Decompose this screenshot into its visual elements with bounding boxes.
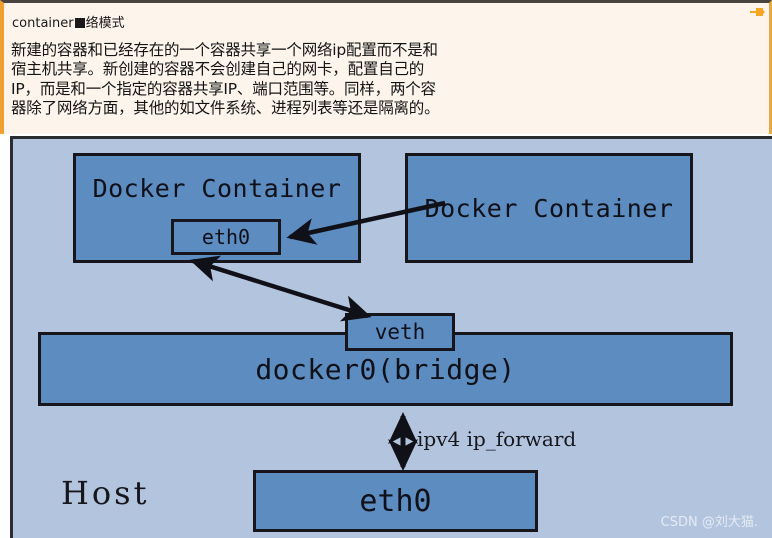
article-paragraph: 新建的容器和已经存在的一个容器共享一个网络ip配置而不是和 宿主机共享。新创建的… xyxy=(11,41,463,119)
article-text-panel: container络模式 新建的容器和已经存在的一个容器共享一个网络ip配置而不… xyxy=(0,0,772,134)
eth0-label: eth0 xyxy=(359,484,431,519)
paragraph-line: 新建的容器和已经存在的一个容器共享一个网络ip配置而不是和 xyxy=(11,41,463,60)
veth-interface-box: veth xyxy=(345,313,455,351)
csdn-watermark: CSDN @刘大猫. xyxy=(661,511,758,530)
paragraph-line: IP，而是和一个指定的容器共享IP、端口范围等。同样，两个容 xyxy=(11,80,463,99)
host-label: Host xyxy=(61,474,149,512)
docker-container-label: Docker Container xyxy=(93,174,342,203)
docker0-label: docker0(bridge) xyxy=(255,353,515,386)
diagram-canvas: Docker Container Docker Container eth0 d… xyxy=(13,139,772,538)
page-title-suffix: 络模式 xyxy=(86,16,125,31)
ip-forward-label: ipv4 ip_forward xyxy=(417,427,576,451)
page-title: container络模式 xyxy=(12,12,125,31)
missing-glyph-box xyxy=(75,18,85,28)
page-title-prefix: container xyxy=(12,16,74,31)
eth0-interface-box-container: eth0 xyxy=(171,219,281,255)
eth0-interface-box-host: eth0 xyxy=(253,470,538,532)
docker-container-label: Docker Container xyxy=(425,194,674,223)
paragraph-line: 器除了网络方面，其他的如文件系统、进程列表等还是隔离的。 xyxy=(11,99,463,118)
paragraph-line: 宿主机共享。新创建的容器不会创建自己的网卡，配置自己的 xyxy=(11,60,463,79)
arrow-eth0-to-veth xyxy=(193,261,368,316)
orange-pin-icon[interactable] xyxy=(750,6,765,18)
veth-label: veth xyxy=(375,320,426,344)
docker-container-box-right: Docker Container xyxy=(405,153,693,263)
docker-container-network-diagram: Docker Container Docker Container eth0 d… xyxy=(10,136,772,538)
eth0-label: eth0 xyxy=(202,225,250,249)
